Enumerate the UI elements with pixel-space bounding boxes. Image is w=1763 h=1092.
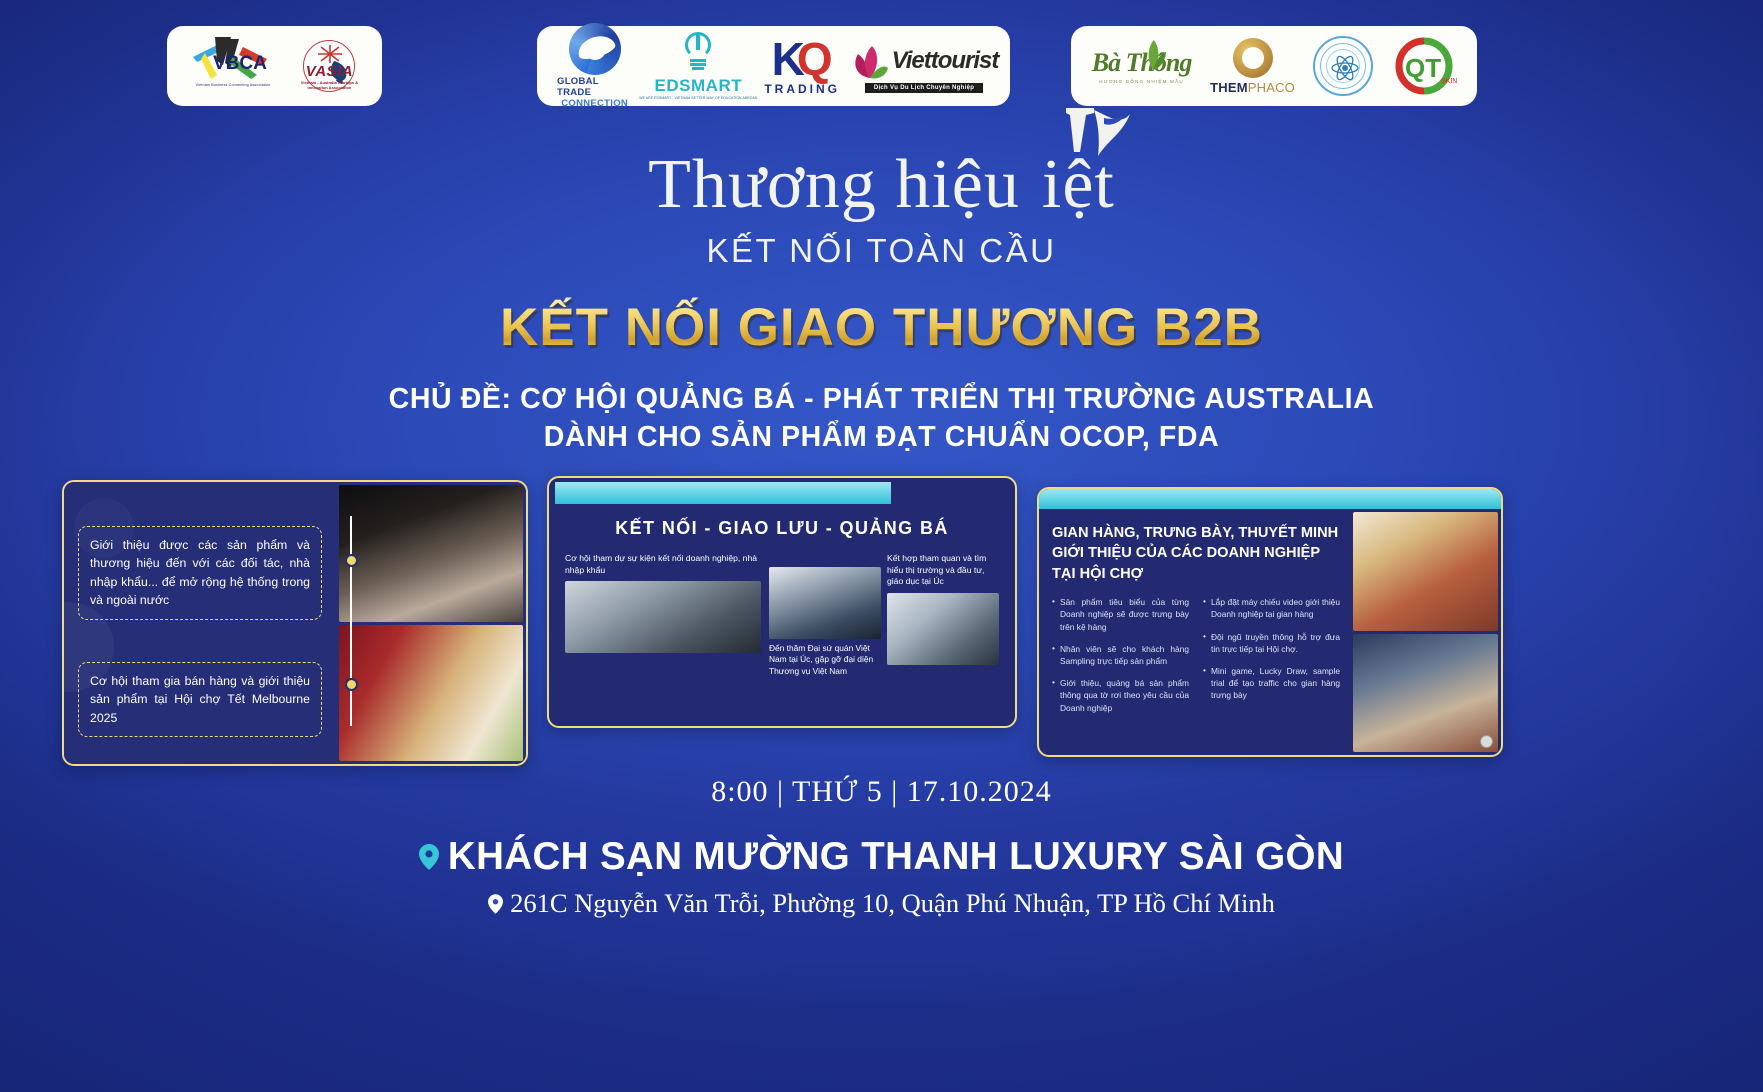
logo-group-associations: VBCA Vietnam Business Connecting Associa… xyxy=(167,26,382,106)
vbca-logo: VBCA Vietnam Business Connecting Associa… xyxy=(187,35,278,97)
ba-thong-subtext: HƯƠNG ĐỒNG NHIỆM MẦU xyxy=(1099,79,1184,84)
location-pin-small-icon xyxy=(488,894,503,914)
logo-group-partners: GLOBAL TRADE CONNECTION EDSMART WE ARE E… xyxy=(537,26,1010,106)
logo-group-sponsors: Bà Thông HƯƠNG ĐỒNG NHIỆM MẦU THEMPHACO xyxy=(1071,26,1477,106)
card2-photo-hall xyxy=(887,593,999,665)
event-address-text: 261C Nguyễn Văn Trỗi, Phường 10, Quận Ph… xyxy=(510,888,1275,919)
card1-bubble-1: Giới thiệu được các sản phẩm và thương h… xyxy=(78,526,322,620)
card2-photo-meeting xyxy=(565,581,761,653)
event-venue: KHÁCH SẠN MƯỜNG THANH LUXURY SÀI GÒN xyxy=(0,835,1763,879)
main-headline: KẾT NỐI GIAO THƯƠNG B2B xyxy=(0,297,1763,358)
card3-bullet-l2: Nhân viên sẽ cho khách hàng Sampling trự… xyxy=(1052,643,1189,667)
gtc-line2: CONNECTION xyxy=(561,98,628,109)
card3-bullets-right: Lắp đặt máy chiếu video giới thiệu Doanh… xyxy=(1203,596,1340,724)
card1-photo-products xyxy=(339,625,523,762)
science-seal-logo xyxy=(1313,36,1373,96)
svg-text:SKIN: SKIN xyxy=(1441,78,1457,85)
brand-line1: Thương hiệu iệt xyxy=(648,150,1115,220)
vbca-text: VBCA xyxy=(213,53,267,75)
card2-accent-bar xyxy=(555,482,891,504)
card-booth: GIAN HÀNG, TRƯNG BÀY, THUYẾT MINH GIỚI T… xyxy=(1037,487,1503,757)
kq-trading-logo: K Q TRADING xyxy=(764,36,840,96)
brand-viet: iệt xyxy=(1042,150,1115,220)
atom-seal-icon xyxy=(1313,36,1373,96)
card3-bullet-r1: Lắp đặt máy chiếu video giới thiệu Doanh… xyxy=(1203,596,1340,620)
global-trade-connection-logo: GLOBAL TRADE CONNECTION xyxy=(557,23,632,109)
event-datetime: 8:00 | THỨ 5 | 17.10.2024 xyxy=(0,775,1763,809)
card3-bullet-r2: Đội ngũ truyền thông hỗ trợ đưa tin trực… xyxy=(1203,631,1340,655)
card3-bullets-left: Sản phẩm tiêu biểu của từng Doanh nghiệp… xyxy=(1052,596,1189,724)
tree-house-emblem-icon xyxy=(1233,38,1273,78)
edsmart-logo: EDSMART WE ARE EDSMART - VIETNAM BETTER … xyxy=(650,32,746,100)
event-address: 261C Nguyễn Văn Trỗi, Phường 10, Quận Ph… xyxy=(0,888,1763,919)
card2-heading: KẾT NỐI - GIAO LƯU - QUẢNG BÁ xyxy=(565,518,999,539)
themphaco-bold: THEM xyxy=(1210,80,1248,95)
card3-bullet-l1: Sản phẩm tiêu biểu của từng Doanh nghiệp… xyxy=(1052,596,1189,633)
card3-photo-food xyxy=(1353,512,1498,631)
subtitle-line2: DÀNH CHO SẢN PHẨM ĐẠT CHUẨN OCOP, FDA xyxy=(0,419,1763,457)
card2-caption-left: Cơ hội tham dự sự kiện kết nối doanh ngh… xyxy=(565,553,761,576)
lotus-leaf-icon xyxy=(850,42,890,80)
card-networking: KẾT NỐI - GIAO LƯU - QUẢNG BÁ Cơ hội tha… xyxy=(547,476,1017,728)
vasia-text: VASIA xyxy=(296,63,362,80)
card-opportunities: Giới thiệu được các sản phẩm và thương h… xyxy=(62,480,528,766)
ba-thong-logo: Bà Thông HƯƠNG ĐỒNG NHIỆM MẦU xyxy=(1091,48,1192,84)
viettourist-tagline: Dịch Vụ Du Lịch Chuyên Nghiệp xyxy=(865,83,983,93)
brand-title-block: Thương hiệu iệt KẾT NỐI TOÀN CẦU xyxy=(0,150,1763,270)
viettourist-text: Viettourist xyxy=(892,47,999,75)
lightbulb-power-icon xyxy=(681,32,715,76)
qt-skin-logo: QT SKIN xyxy=(1391,37,1457,95)
card3-photo-booth xyxy=(1353,634,1498,753)
vasia-subtext: Vietnam - Australia Startups & Innovatio… xyxy=(296,80,362,91)
kq-letter-q: Q xyxy=(797,39,833,79)
card3-accent-bar xyxy=(1039,489,1501,509)
kq-subtext: TRADING xyxy=(764,82,840,96)
timeline-dot-1 xyxy=(345,554,358,567)
card2-caption-right: Kết hợp tham quan và tìm hiểu thị trường… xyxy=(887,553,999,588)
card3-bullet-r3: Mini game, Lucky Draw, sample trial để t… xyxy=(1203,665,1340,702)
slides-row: Giới thiệu được các sản phẩm và thương h… xyxy=(0,478,1763,768)
brand-line2: KẾT NỐI TOÀN CẦU xyxy=(0,232,1763,270)
themphaco-light: PHACO xyxy=(1248,80,1295,95)
edsmart-subtext: WE ARE EDSMART - VIETNAM BETTER WAY OF E… xyxy=(639,96,757,100)
sponsor-logo-bar: VBCA Vietnam Business Connecting Associa… xyxy=(0,26,1763,106)
globe-swoosh-icon xyxy=(569,23,621,75)
card2-caption-bottom: Đến thăm Đại sứ quán Việt Nam tại Úc, gặ… xyxy=(769,643,881,677)
themphaco-logo: THEMPHACO xyxy=(1210,38,1295,95)
vbca-subtext: Vietnam Business Connecting Association xyxy=(187,83,279,87)
card3-bullet-l3: Giới thiệu, quảng bá sản phẩm thông qua … xyxy=(1052,677,1189,714)
event-venue-text: KHÁCH SẠN MƯỜNG THANH LUXURY SÀI GÒN xyxy=(448,835,1344,879)
card3-photo-badge xyxy=(1480,735,1493,748)
stylized-v-flourish-icon xyxy=(1064,104,1134,166)
brand-thuong-hieu: Thương hiệu xyxy=(648,150,1020,220)
leaf-icon xyxy=(1140,40,1166,70)
svg-text:QT: QT xyxy=(1405,53,1441,83)
subtitle-line1: CHỦ ĐỀ: CƠ HỘI QUẢNG BÁ - PHÁT TRIỂN THỊ… xyxy=(0,381,1763,419)
card3-heading: GIAN HÀNG, TRƯNG BÀY, THUYẾT MINH GIỚI T… xyxy=(1052,523,1340,584)
timeline-axis xyxy=(350,516,352,726)
edsmart-text: EDSMART xyxy=(655,76,743,96)
gtc-line1: GLOBAL TRADE xyxy=(557,76,632,98)
viettourist-logo: Viettourist Dịch Vụ Du Lịch Chuyên Nghiệ… xyxy=(858,39,990,93)
card1-bubble-2: Cơ hội tham gia bán hàng và giới thiệu s… xyxy=(78,662,322,737)
timeline-dot-2 xyxy=(345,678,358,691)
subtitle-block: CHỦ ĐỀ: CƠ HỘI QUẢNG BÁ - PHÁT TRIỂN THỊ… xyxy=(0,381,1763,456)
location-pin-icon xyxy=(419,844,439,870)
card1-photo-shop xyxy=(339,485,523,622)
themphaco-text: THEMPHACO xyxy=(1210,80,1295,95)
qt-circle-icon: QT SKIN xyxy=(1391,37,1457,95)
vasia-logo: VASIA Vietnam - Australia Startups & Inn… xyxy=(296,33,362,99)
card2-photo-embassy xyxy=(769,567,881,639)
